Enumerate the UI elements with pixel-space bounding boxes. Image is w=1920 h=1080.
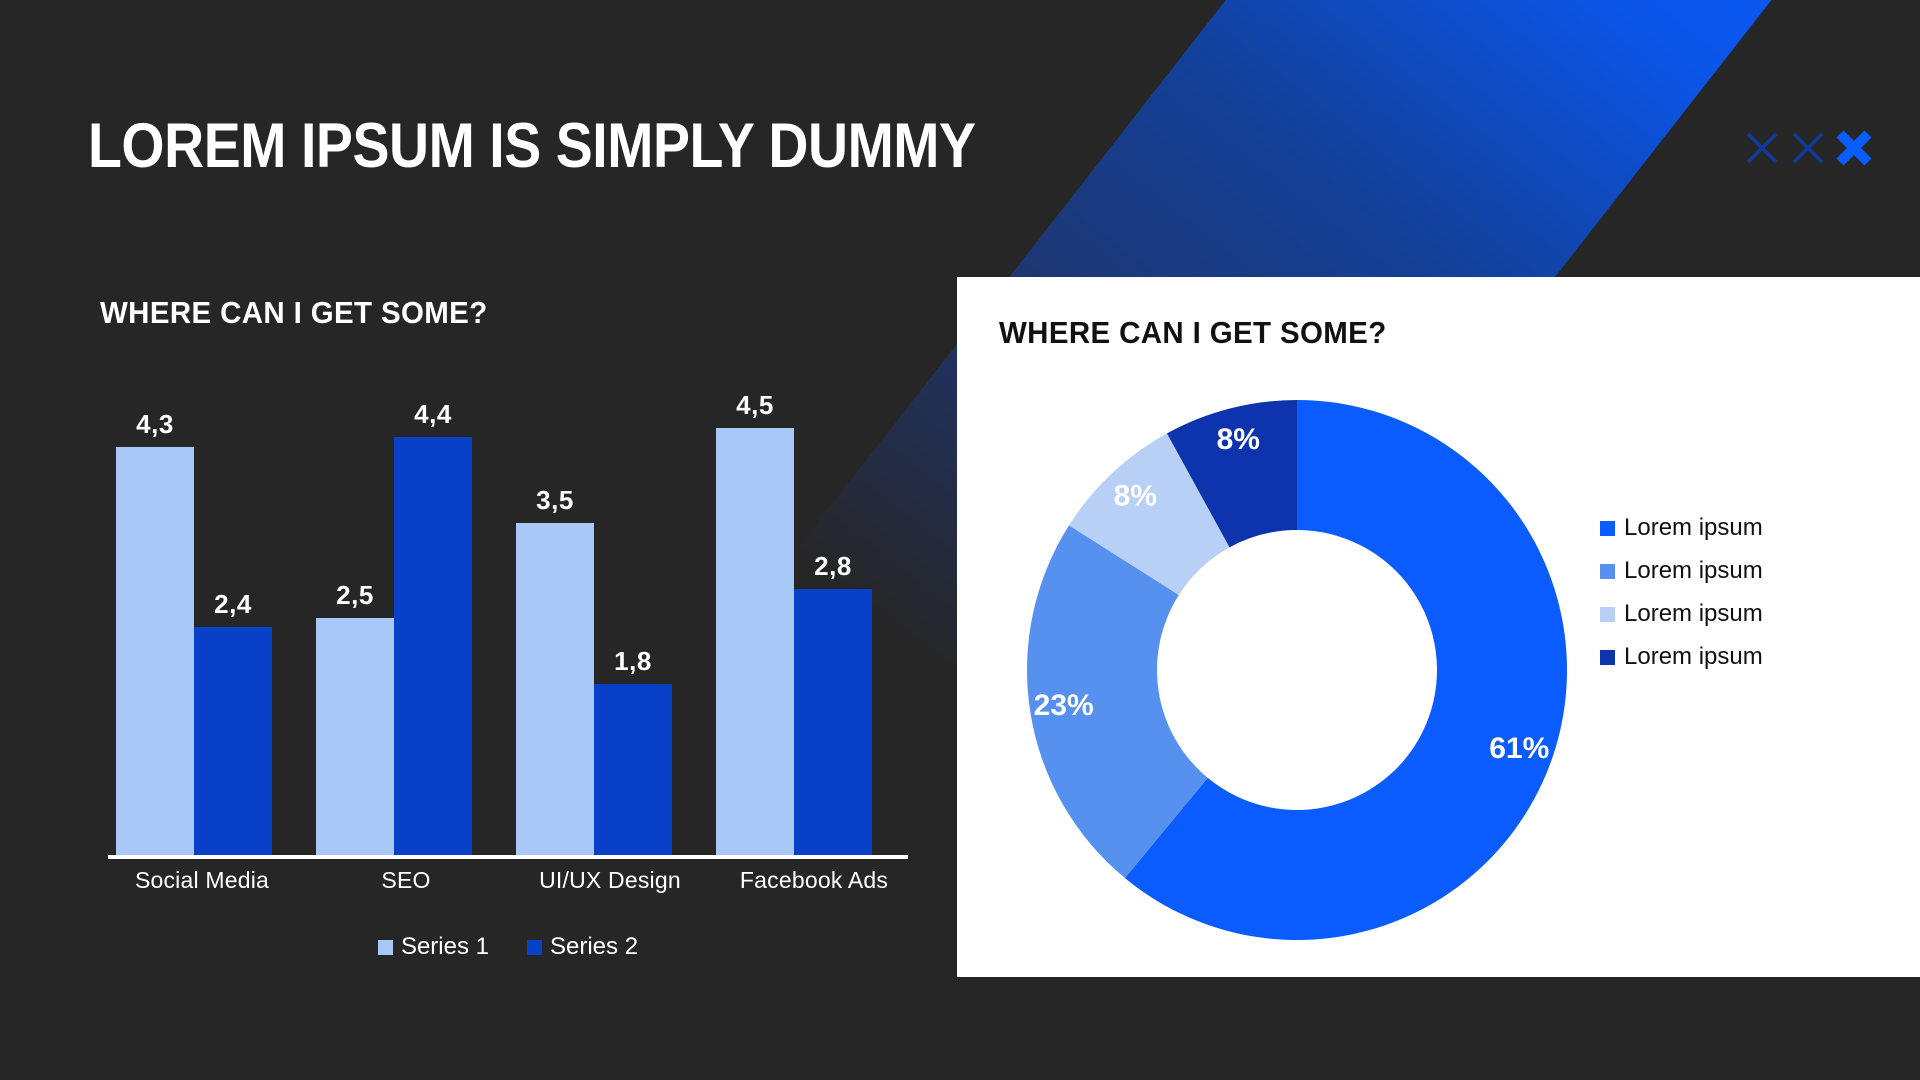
bar-series-2[interactable]: 2,8 — [794, 380, 872, 855]
bar-category-label: Social Media — [100, 867, 304, 894]
donut-chart-legend: Lorem ipsumLorem ipsumLorem ipsumLorem i… — [1600, 514, 1763, 671]
legend-swatch-icon — [527, 940, 542, 955]
bar-rect[interactable] — [194, 627, 272, 855]
donut-chart-panel: WHERE CAN I GET SOME? 61%23%8%8% Lorem i… — [957, 277, 1920, 977]
donut-chart-plot: 61%23%8%8% — [1017, 390, 1577, 950]
bar-chart-legend: Series 1Series 2 — [100, 933, 916, 961]
bar-value-label: 4,3 — [116, 409, 194, 440]
donut-slice-label: 8% — [1114, 480, 1157, 513]
donut-slice-label: 8% — [1217, 423, 1260, 456]
bar-group: 2,54,4 — [316, 380, 472, 855]
bar-rect[interactable] — [794, 589, 872, 855]
bar-group: 4,32,4 — [116, 380, 272, 855]
donut-legend-label: Lorem ipsum — [1624, 514, 1763, 542]
bar-group: 3,51,8 — [516, 380, 672, 855]
bar-legend-item[interactable]: Series 1 — [378, 933, 489, 961]
x-marks-decoration — [1742, 128, 1874, 168]
bar-legend-label: Series 2 — [550, 933, 638, 961]
legend-swatch-icon — [1600, 564, 1615, 579]
bar-series-2[interactable]: 4,4 — [394, 380, 472, 855]
donut-legend-item[interactable]: Lorem ipsum — [1600, 557, 1763, 585]
bar-value-label: 4,4 — [394, 399, 472, 430]
donut-legend-item[interactable]: Lorem ipsum — [1600, 643, 1763, 671]
x-mark-outline-1-icon — [1742, 128, 1782, 168]
x-mark-solid-icon — [1834, 128, 1874, 168]
bar-rect[interactable] — [116, 447, 194, 856]
donut-slice-label: 23% — [1034, 689, 1094, 722]
bar-legend-item[interactable]: Series 2 — [527, 933, 638, 961]
bar-rect[interactable] — [594, 684, 672, 855]
bar-series-1[interactable]: 3,5 — [516, 380, 594, 855]
bar-value-label: 2,8 — [794, 551, 872, 582]
x-mark-outline-2-icon — [1788, 128, 1828, 168]
bar-legend-label: Series 1 — [401, 933, 489, 961]
bar-category-label: Facebook Ads — [712, 867, 916, 894]
bar-rect[interactable] — [316, 618, 394, 856]
legend-swatch-icon — [378, 940, 393, 955]
bar-category-label: UI/UX Design — [508, 867, 712, 894]
bar-rect[interactable] — [394, 437, 472, 855]
donut-legend-label: Lorem ipsum — [1624, 643, 1763, 671]
bar-category-label: SEO — [304, 867, 508, 894]
donut-legend-item[interactable]: Lorem ipsum — [1600, 514, 1763, 542]
legend-swatch-icon — [1600, 607, 1615, 622]
donut-legend-item[interactable]: Lorem ipsum — [1600, 600, 1763, 628]
bar-rect[interactable] — [516, 523, 594, 856]
bar-series-1[interactable]: 4,3 — [116, 380, 194, 855]
bar-value-label: 1,8 — [594, 646, 672, 677]
bar-chart-axis-line — [108, 855, 908, 859]
page-title: LOREM IPSUM IS SIMPLY DUMMY — [88, 110, 976, 182]
donut-chart-svg: 61%23%8%8% — [1017, 390, 1577, 950]
bar-group: 4,52,8 — [716, 380, 872, 855]
bar-series-1[interactable]: 4,5 — [716, 380, 794, 855]
donut-slice-label: 61% — [1489, 732, 1549, 765]
bar-series-2[interactable]: 1,8 — [594, 380, 672, 855]
slide-canvas: LOREM IPSUM IS SIMPLY DUMMY WHERE CAN I … — [0, 0, 1920, 1080]
bar-chart-heading: WHERE CAN I GET SOME? — [100, 295, 870, 331]
bar-chart-category-labels: Social MediaSEOUI/UX DesignFacebook Ads — [100, 867, 916, 894]
bar-series-1[interactable]: 2,5 — [316, 380, 394, 855]
donut-legend-label: Lorem ipsum — [1624, 600, 1763, 628]
bar-series-2[interactable]: 2,4 — [194, 380, 272, 855]
legend-swatch-icon — [1600, 650, 1615, 665]
bar-value-label: 2,5 — [316, 580, 394, 611]
bar-chart-plot: 4,32,42,54,43,51,84,52,8 — [108, 380, 908, 855]
bar-value-label: 3,5 — [516, 485, 594, 516]
bar-value-label: 2,4 — [194, 589, 272, 620]
legend-swatch-icon — [1600, 521, 1615, 536]
donut-legend-label: Lorem ipsum — [1624, 557, 1763, 585]
donut-chart-heading: WHERE CAN I GET SOME? — [999, 315, 1387, 351]
bar-value-label: 4,5 — [716, 390, 794, 421]
bar-chart-panel: WHERE CAN I GET SOME? 4,32,42,54,43,51,8… — [100, 295, 910, 995]
bar-rect[interactable] — [716, 428, 794, 856]
